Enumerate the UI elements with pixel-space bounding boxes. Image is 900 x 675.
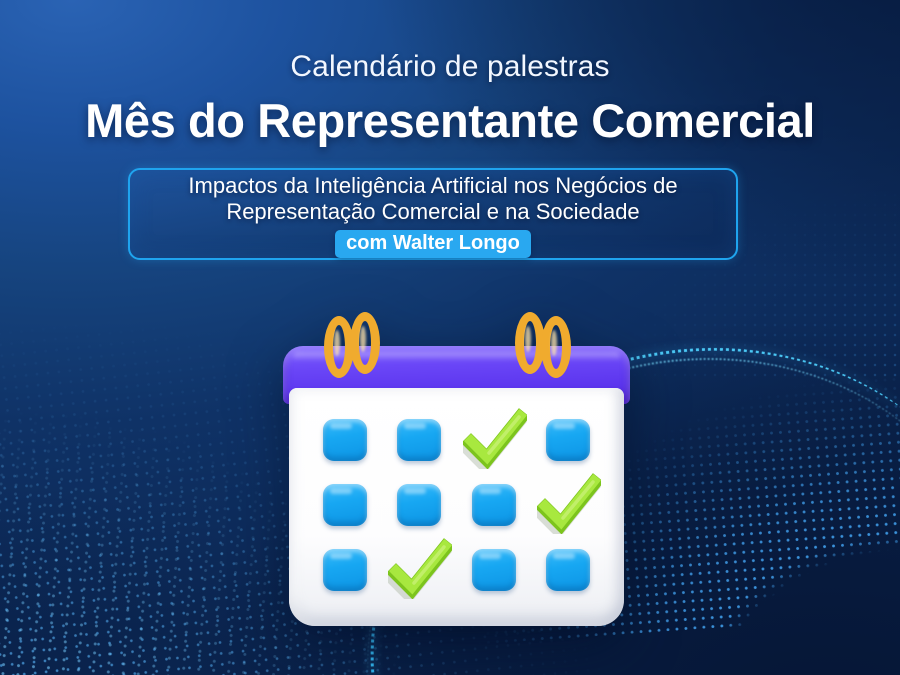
heading-block: Calendário de palestras Mês do Represent… — [0, 0, 900, 145]
calendar-day-tile-icon — [472, 549, 516, 591]
page-title: Mês do Representante Comercial — [0, 82, 900, 145]
calendar-day-tile-icon — [323, 419, 367, 461]
calendar-day-tile-icon — [397, 419, 441, 461]
check-icon — [546, 484, 590, 526]
check-icon — [397, 549, 441, 591]
calendar-day-grid — [289, 388, 624, 626]
kicker-text: Calendário de palestras — [0, 0, 900, 82]
check-icon — [472, 419, 516, 461]
calendar-day-tile-icon — [546, 549, 590, 591]
calendar-day-tile-icon — [323, 549, 367, 591]
calendar-day-tile-icon — [546, 419, 590, 461]
poster-canvas: Calendário de palestras Mês do Represent… — [0, 0, 900, 675]
lecture-info-panel: Impactos da Inteligência Artificial nos … — [128, 168, 738, 260]
calendar-ring-icon — [541, 316, 571, 378]
calendar-day-tile-icon — [323, 484, 367, 526]
speaker-badge: com Walter Longo — [335, 230, 531, 259]
lecture-title-line-1: Impactos da Inteligência Artificial nos … — [188, 173, 677, 199]
calendar-3d-illustration — [283, 318, 630, 628]
calendar-day-tile-icon — [397, 484, 441, 526]
calendar-day-tile-icon — [472, 484, 516, 526]
calendar-ring-icon — [350, 312, 380, 374]
lecture-title-line-2: Representação Comercial e na Sociedade — [226, 199, 639, 225]
